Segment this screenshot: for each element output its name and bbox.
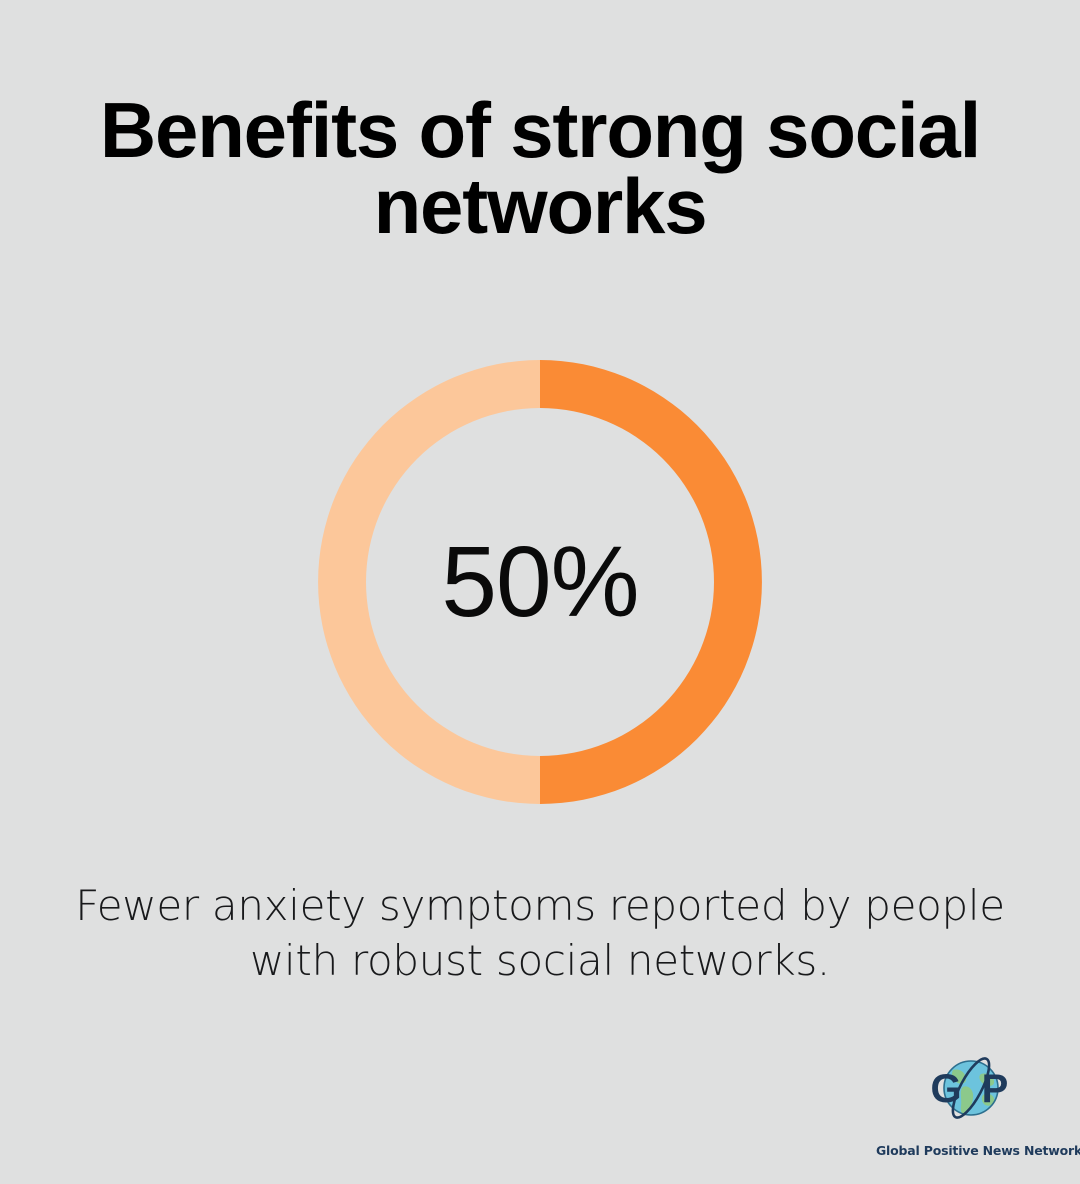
donut-chart: 50% <box>294 336 786 828</box>
brand-logo: G P Global Positive News Network <box>876 1054 1066 1162</box>
infographic-poster: Benefits of strong social networks 50% F… <box>0 0 1080 1184</box>
donut-hole <box>366 408 714 756</box>
logo-wordmark: Global Positive News Network <box>876 1143 1066 1158</box>
title-block: Benefits of strong social networks <box>0 92 1080 245</box>
caption-text: Fewer anxiety symptoms reported by peopl… <box>52 878 1028 989</box>
logo-initial-g: G <box>930 1067 961 1111</box>
page-title: Benefits of strong social networks <box>58 92 1022 245</box>
logo-initial-p: P <box>982 1067 1009 1111</box>
donut-chart-svg <box>294 336 786 828</box>
caption-block: Fewer anxiety symptoms reported by peopl… <box>0 878 1080 989</box>
globe-with-orbit-icon: G P <box>919 1054 1023 1126</box>
